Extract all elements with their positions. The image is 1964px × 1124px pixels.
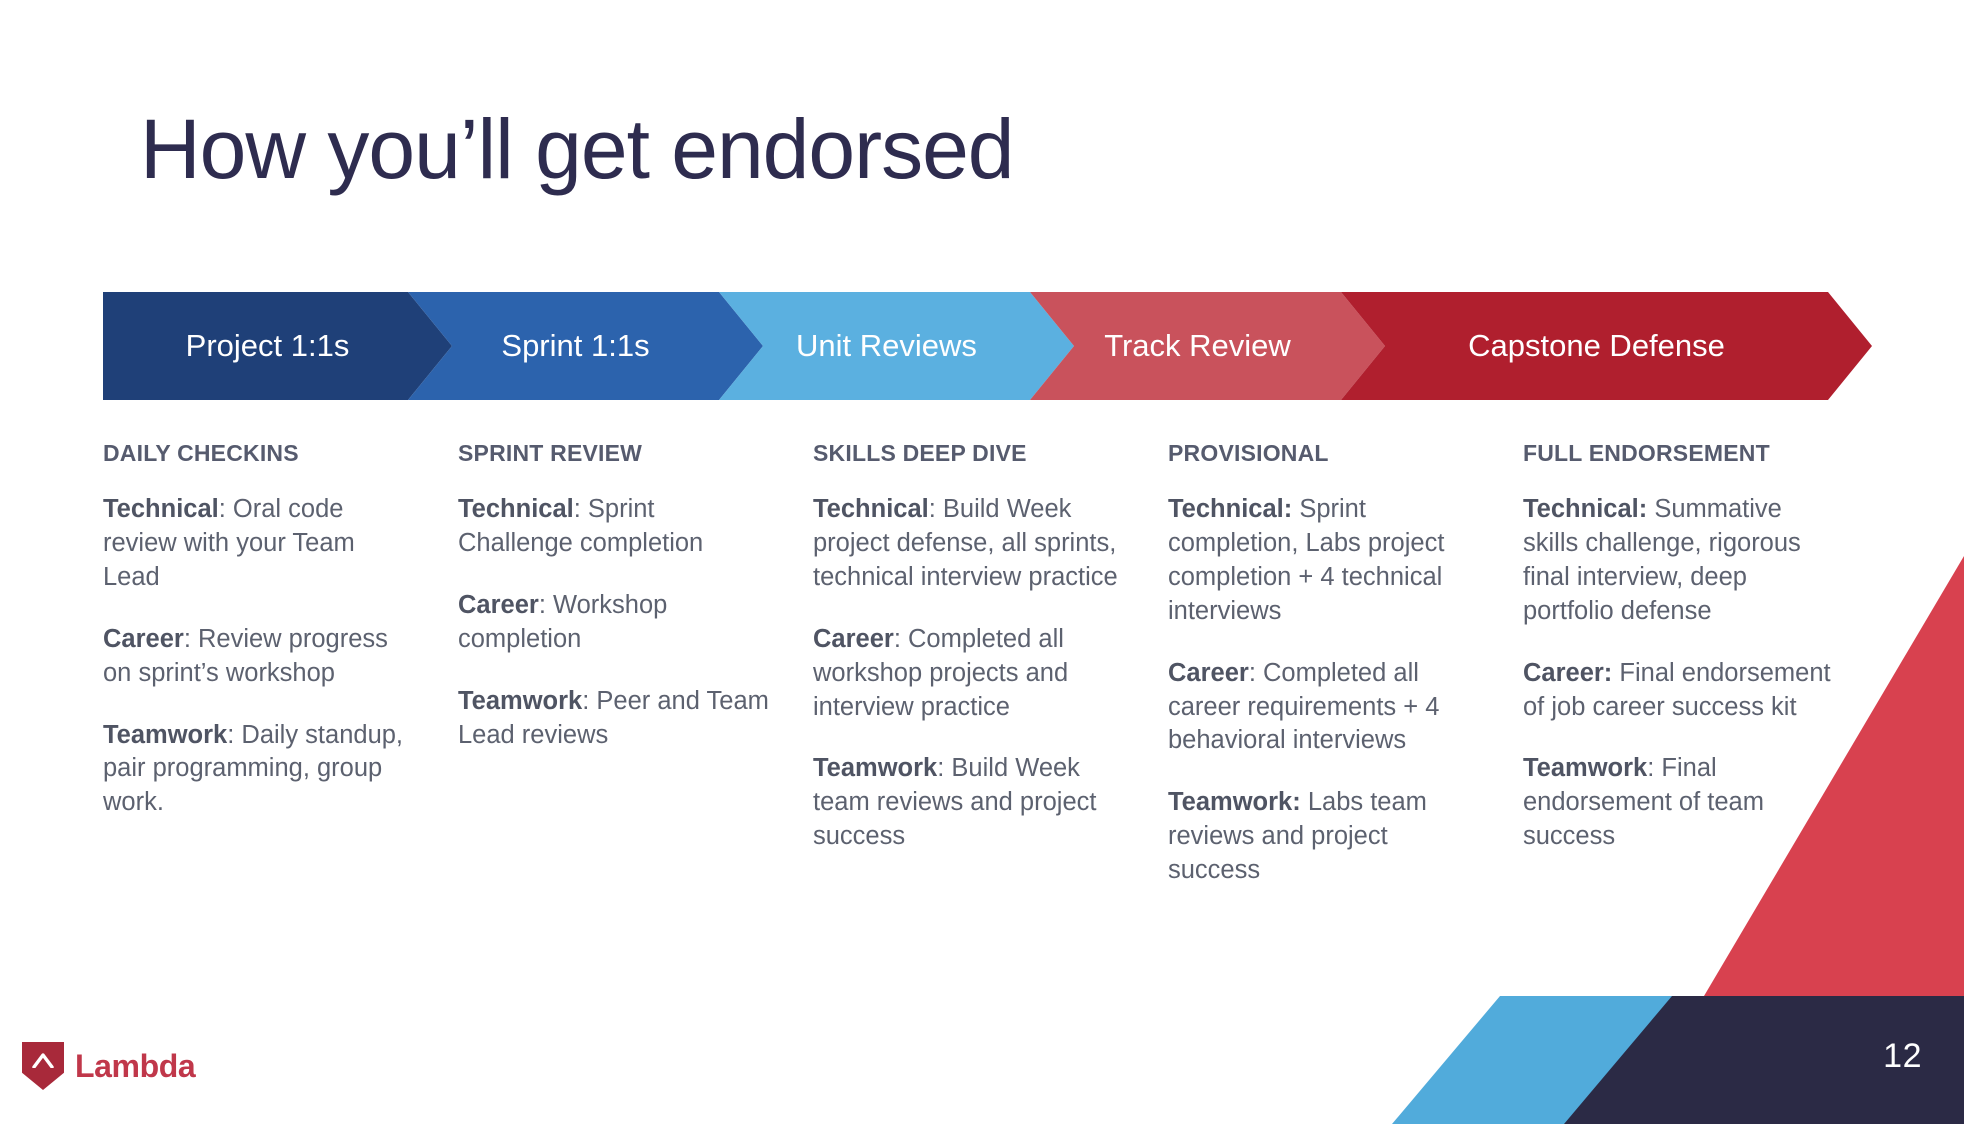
detail-item-label: Teamwork:: [1168, 788, 1301, 816]
detail-item-label: Teamwork: [103, 721, 227, 749]
chevron-step-5-label: Capstone Defense: [1468, 328, 1725, 365]
detail-item-label: Career: [1168, 659, 1249, 687]
detail-item-sep: :: [227, 721, 241, 749]
detail-item: Technical: Oral code review with your Te…: [103, 493, 418, 595]
detail-item: Technical: Summative skills challenge, r…: [1523, 493, 1838, 629]
detail-item-sep: :: [539, 591, 553, 619]
column-daily-checkins: DAILY CHECKINS Technical: Oral code revi…: [103, 440, 458, 916]
detail-item: Career: Completed all career requirement…: [1168, 657, 1483, 759]
detail-item: Teamwork: Final endorsement of team succ…: [1523, 752, 1838, 854]
detail-item-label: Career: [103, 625, 184, 653]
chevron-step-1-label: Project 1:1s: [186, 328, 350, 365]
detail-item: Technical: Build Week project defense, a…: [813, 493, 1128, 595]
column-heading: PROVISIONAL: [1168, 440, 1483, 467]
chevron-step-2-label: Sprint 1:1s: [501, 328, 649, 365]
detail-item: Teamwork: Peer and Team Lead reviews: [458, 685, 773, 753]
column-heading: FULL ENDORSEMENT: [1523, 440, 1838, 467]
detail-item: Career: Completed all workshop projects …: [813, 623, 1128, 725]
detail-item-label: Teamwork: [1523, 754, 1647, 782]
detail-item-label: Technical: [103, 495, 219, 523]
detail-item-label: Career:: [1523, 659, 1612, 687]
stage-detail-columns: DAILY CHECKINS Technical: Oral code revi…: [103, 440, 1903, 916]
detail-item-label: Teamwork: [813, 754, 937, 782]
chevron-step-4[interactable]: Track Review: [1030, 292, 1385, 400]
lambda-logo: Lambda: [22, 1042, 195, 1090]
detail-item-label: Technical: [458, 495, 574, 523]
column-heading: SPRINT REVIEW: [458, 440, 773, 467]
detail-item-label: Career: [458, 591, 539, 619]
chevron-step-5[interactable]: Capstone Defense: [1341, 292, 1872, 400]
page-number: 12: [1883, 1037, 1922, 1076]
detail-item: Teamwork: Daily standup, pair programmin…: [103, 719, 418, 821]
column-provisional: PROVISIONAL Technical: Sprint completion…: [1168, 440, 1523, 916]
column-heading: SKILLS DEEP DIVE: [813, 440, 1128, 467]
column-heading: DAILY CHECKINS: [103, 440, 418, 467]
detail-item-sep: :: [184, 625, 198, 653]
chevron-step-3[interactable]: Unit Reviews: [719, 292, 1074, 400]
detail-item-sep: [1301, 788, 1308, 816]
detail-item-label: Teamwork: [458, 687, 582, 715]
detail-item: Teamwork: Build Week team reviews and pr…: [813, 752, 1128, 854]
detail-item-sep: :: [1249, 659, 1263, 687]
detail-item-label: Technical: [813, 495, 929, 523]
detail-item-label: Career: [813, 625, 894, 653]
detail-item: Technical: Sprint Challenge completion: [458, 493, 773, 561]
lambda-wordmark: Lambda: [75, 1048, 195, 1085]
shield-icon: [22, 1042, 64, 1090]
chevron-step-2[interactable]: Sprint 1:1s: [408, 292, 763, 400]
chevron-step-3-label: Unit Reviews: [796, 328, 977, 365]
column-skills-deep-dive: SKILLS DEEP DIVE Technical: Build Week p…: [813, 440, 1168, 916]
lambda-chevron-icon: [32, 1053, 54, 1068]
detail-item-label: Technical:: [1168, 495, 1292, 523]
slide-canvas: 12 How you’ll get endorsed Project 1:1s …: [0, 0, 1964, 1124]
decor-blue-parallelogram: [1392, 996, 1692, 1124]
detail-item: Career: Final endorsement of job career …: [1523, 657, 1838, 725]
detail-item: Technical: Sprint completion, Labs proje…: [1168, 493, 1483, 629]
detail-item: Career: Review progress on sprint’s work…: [103, 623, 418, 691]
detail-item-sep: :: [574, 495, 588, 523]
detail-item-sep: :: [582, 687, 596, 715]
detail-item: Career: Workshop completion: [458, 589, 773, 657]
chevron-step-1[interactable]: Project 1:1s: [103, 292, 452, 400]
detail-item: Teamwork: Labs team reviews and project …: [1168, 786, 1483, 888]
column-sprint-review: SPRINT REVIEW Technical: Sprint Challeng…: [458, 440, 813, 916]
chevron-step-4-label: Track Review: [1104, 328, 1291, 365]
detail-item-sep: :: [894, 625, 908, 653]
column-full-endorsement: FULL ENDORSEMENT Technical: Summative sk…: [1523, 440, 1878, 916]
detail-item-sep: :: [219, 495, 233, 523]
page-title: How you’ll get endorsed: [140, 105, 1014, 193]
detail-item-label: Technical:: [1523, 495, 1647, 523]
process-chevron-band: Project 1:1s Sprint 1:1s Unit Reviews Tr…: [103, 292, 1872, 400]
detail-item-sep: :: [929, 495, 943, 523]
detail-item-sep: :: [937, 754, 951, 782]
detail-item-sep: :: [1647, 754, 1661, 782]
